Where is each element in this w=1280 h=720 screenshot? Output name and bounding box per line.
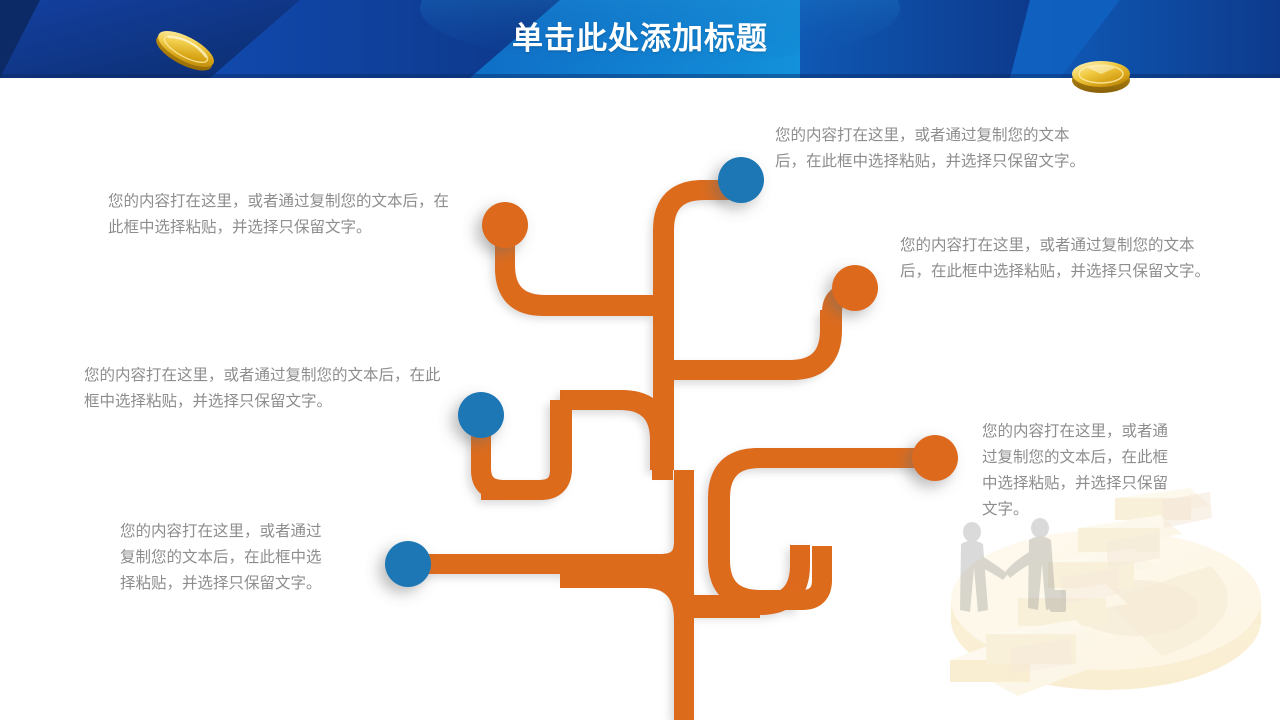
gold-coin-left-icon	[150, 24, 222, 74]
node-right-orange[interactable]	[832, 265, 878, 311]
node-far-right-orange[interactable]	[912, 435, 958, 481]
node-upper-left-orange[interactable]	[482, 202, 528, 248]
branch-right-upper-run	[664, 300, 820, 370]
content-text-top-right: 您的内容打在这里，或者通过复制您的文本后，在此框中选择粘贴，并选择只保留文字。	[775, 122, 1100, 174]
node-top-blue[interactable]	[718, 157, 764, 203]
content-text-mid-left: 您的内容打在这里，或者通过复制您的文本后，在此框中选择粘贴，并选择只保留文字。	[84, 362, 444, 414]
node-mid-left-blue[interactable]	[458, 392, 504, 438]
gold-coin-right-icon	[1068, 55, 1134, 97]
content-text-upper-right: 您的内容打在这里，或者通过复制您的文本后，在此框中选择粘贴，并选择只保留文字。	[900, 232, 1225, 284]
content-text-lower-right: 您的内容打在这里，或者通过复制您的文本后，在此框中选择粘贴，并选择只保留文字。	[982, 418, 1182, 522]
content-text-bottom-left: 您的内容打在这里，或者通过复制您的文本后，在此框中选择粘贴，并选择只保留文字。	[120, 518, 328, 596]
branch-upper-left	[505, 225, 664, 305]
slide-canvas: 单击此处添加标题	[0, 0, 1280, 720]
content-text-top-left: 您的内容打在这里，或者通过复制您的文本后，在此框中选择粘贴，并选择只保留文字。	[108, 188, 458, 240]
node-lower-left-blue[interactable]	[385, 541, 431, 587]
